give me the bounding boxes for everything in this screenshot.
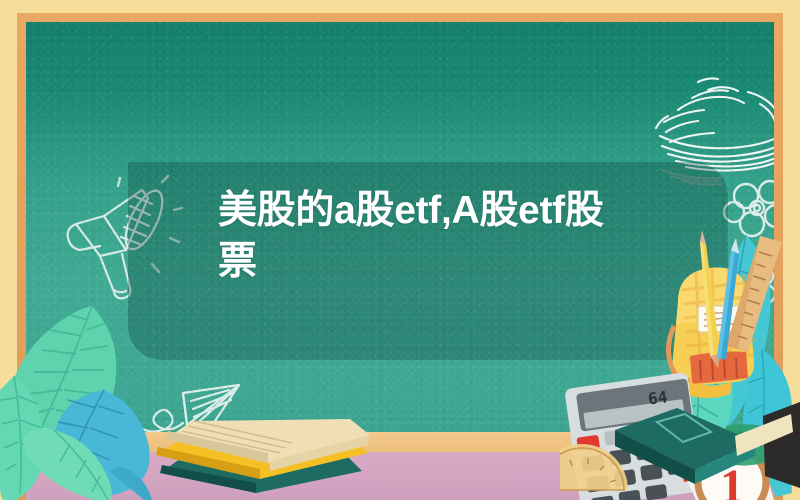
desk-shelf (26, 432, 774, 454)
page-title: 美股的a股etf,A股etf股票 (218, 186, 628, 287)
page-title-text: 美股的a股etf,A股etf股票 (218, 189, 604, 283)
poster-canvas: 64 (0, 0, 800, 500)
desk-surface (26, 452, 774, 500)
